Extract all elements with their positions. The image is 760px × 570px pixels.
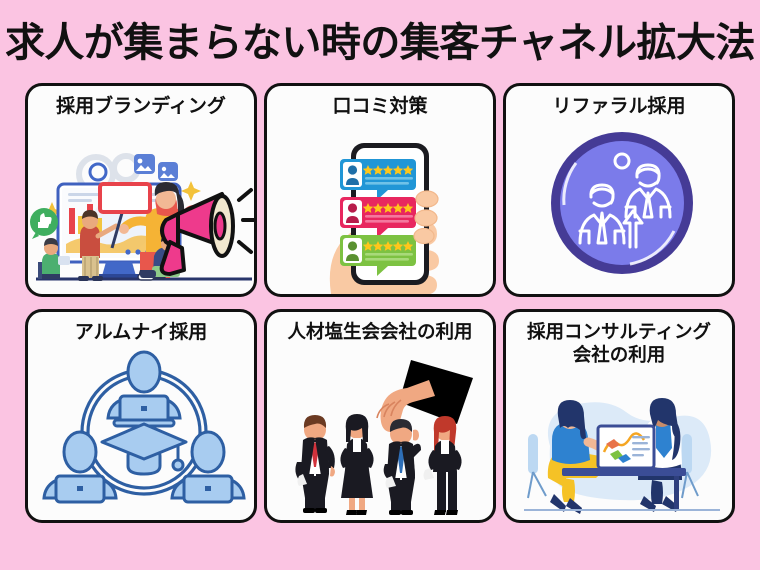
hand-phone-reviews-illustration	[267, 139, 493, 294]
marketing-megaphone-illustration	[28, 144, 254, 294]
card-title: 口コミ対策	[267, 95, 493, 118]
card-alumni-hiring[interactable]: アルムナイ採用	[25, 309, 257, 523]
card-recruitment-branding[interactable]: 採用ブランディング	[25, 83, 257, 297]
card-title: アルムナイ採用	[28, 321, 254, 344]
card-title: リファラル採用	[506, 95, 732, 118]
card-title-line-1: 採用コンサルティング	[510, 321, 728, 344]
card-title: 採用コンサルティング 会社の利用	[506, 321, 732, 366]
page-title: 求人が集まらない時の集客チャネル拡大法	[0, 8, 760, 70]
card-referral-hiring[interactable]: リファラル採用	[503, 83, 735, 297]
hand-picking-business-people-illustration	[267, 342, 493, 520]
card-title: 採用ブランディング	[28, 95, 254, 118]
card-word-of-mouth[interactable]: 口コミ対策	[264, 83, 496, 297]
card-staffing-agency[interactable]: 人材塩生会会社の利用	[264, 309, 496, 523]
card-recruiting-consulting[interactable]: 採用コンサルティング 会社の利用	[503, 309, 735, 523]
card-title: 人材塩生会会社の利用	[267, 321, 493, 344]
consulting-meeting-illustration	[506, 386, 732, 514]
referral-people-circle-icon	[506, 121, 732, 286]
alumni-network-icon	[28, 346, 254, 514]
card-title-line-2: 会社の利用	[510, 344, 728, 367]
channel-card-grid: 採用ブランディング	[25, 83, 735, 538]
